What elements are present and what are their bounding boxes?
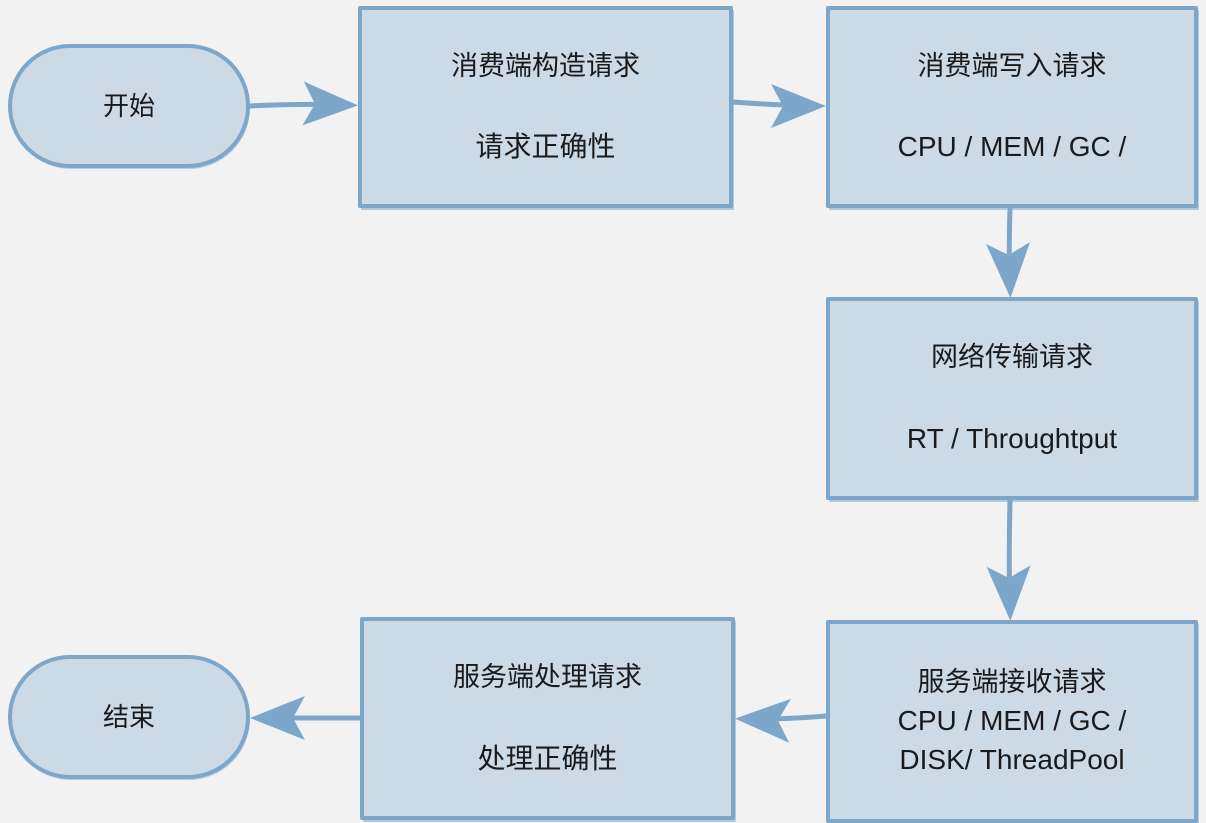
flowchart-canvas: 开始 消费端构造请求 请求正确性 消费端写入请求 CPU / MEM / GC …	[0, 0, 1206, 823]
node-server-receive-metric-2: DISK/ ThreadPool	[899, 742, 1124, 777]
edge-write-to-network	[1009, 208, 1010, 288]
edge-network-to-receive	[1009, 500, 1010, 611]
node-server-receive[interactable]: 服务端接收请求 CPU / MEM / GC / DISK/ ThreadPoo…	[826, 620, 1198, 823]
node-end-label: 结束	[103, 701, 155, 734]
node-build-request-metric: 请求正确性	[475, 129, 615, 164]
node-build-request-title: 消费端构造请求	[451, 50, 640, 84]
edge-build-to-write	[733, 102, 816, 106]
node-build-request[interactable]: 消费端构造请求 请求正确性	[358, 6, 733, 208]
node-network-transfer[interactable]: 网络传输请求 RT / Throughtput	[826, 297, 1198, 500]
node-network-transfer-metric: RT / Throughtput	[907, 421, 1117, 456]
node-start-label: 开始	[103, 90, 155, 123]
node-start[interactable]: 开始	[8, 44, 250, 168]
edge-start-to-build	[250, 104, 348, 106]
node-end[interactable]: 结束	[8, 655, 250, 779]
node-server-handle[interactable]: 服务端处理请求 处理正确性	[360, 617, 735, 820]
edge-receive-to-handle	[745, 716, 826, 719]
node-server-receive-metric-1: CPU / MEM / GC /	[898, 703, 1127, 738]
node-server-handle-title: 服务端处理请求	[453, 661, 642, 695]
node-write-request-title: 消费端写入请求	[918, 50, 1107, 84]
node-write-request-metric: CPU / MEM / GC /	[898, 129, 1127, 164]
node-server-receive-title: 服务端接收请求	[918, 666, 1107, 700]
node-network-transfer-title: 网络传输请求	[931, 341, 1093, 375]
node-server-handle-metric: 处理正确性	[477, 741, 617, 776]
node-write-request[interactable]: 消费端写入请求 CPU / MEM / GC /	[826, 6, 1198, 208]
